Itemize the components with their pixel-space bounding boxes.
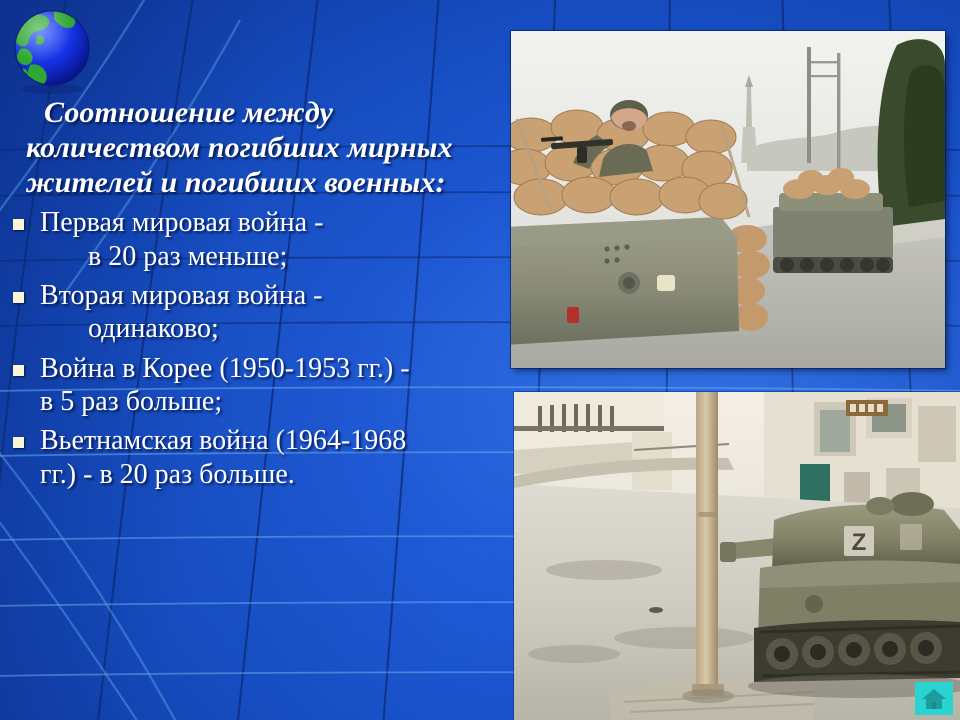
bullet-item-4-line1: Вьетнамская война (1964-1968 xyxy=(40,424,502,457)
bullet-list: Первая мировая война - в 20 раз меньше; … xyxy=(0,206,512,497)
presentation-slide: Соотношение между количеством погибших м… xyxy=(0,0,960,720)
globe-icon xyxy=(6,3,98,95)
bullet-marker-icon xyxy=(13,437,24,448)
slide-title: Соотношение между количеством погибших м… xyxy=(0,96,512,200)
bullet-item-4-line2: гг.) - в 20 раз больше. xyxy=(40,458,502,491)
bullet-item-3-line2: в 5 раз больше; xyxy=(40,385,502,418)
home-button[interactable] xyxy=(915,682,953,715)
bullet-item-2-line2: одинаково; xyxy=(40,312,502,345)
bullet-item-1: Первая мировая война - в 20 раз меньше; xyxy=(0,206,512,279)
bullet-marker-icon xyxy=(13,219,24,230)
photo-armored-carriers xyxy=(511,31,945,368)
bullet-marker-icon xyxy=(13,365,24,376)
bullet-item-1-line2: в 20 раз меньше; xyxy=(40,240,502,273)
bullet-item-1-line1: Первая мировая война - xyxy=(40,206,502,239)
photo-tank-street: Z xyxy=(514,392,960,720)
bullet-marker-icon xyxy=(13,292,24,303)
bullet-item-2: Вторая мировая война - одинаково; xyxy=(0,279,512,352)
slide-content: Соотношение между количеством погибших м… xyxy=(0,96,512,497)
bullet-item-4: Вьетнамская война (1964-1968 гг.) - в 20… xyxy=(0,424,512,497)
svg-text:Z: Z xyxy=(852,529,867,556)
bullet-item-3: Война в Корее (1950-1953 гг.) - в 5 раз … xyxy=(0,352,512,425)
bullet-item-3-line1: Война в Корее (1950-1953 гг.) - xyxy=(40,352,502,385)
home-icon xyxy=(921,688,947,710)
bullet-item-2-line1: Вторая мировая война - xyxy=(40,279,502,312)
